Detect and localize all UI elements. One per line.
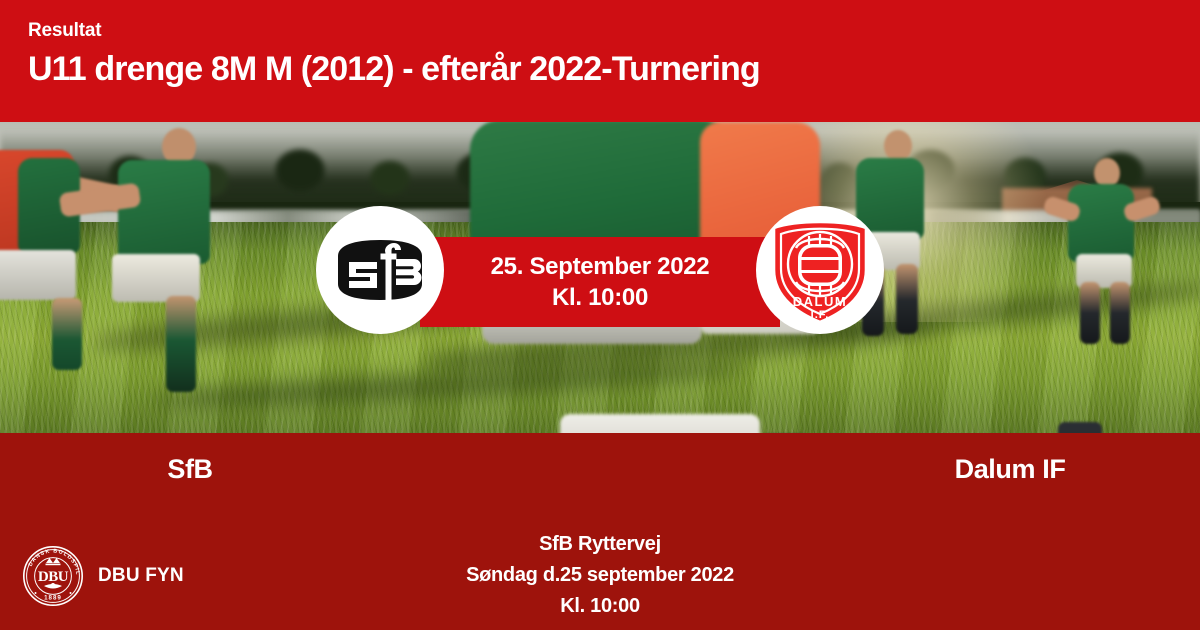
player-leg	[1110, 282, 1130, 344]
foreground-player-shorts	[560, 414, 760, 433]
match-result-poster: Resultat U11 drenge 8M M (2012) - efterå…	[0, 0, 1200, 630]
page-title: U11 drenge 8M M (2012) - efterår 2022-Tu…	[28, 46, 1200, 92]
player-leg	[896, 264, 918, 334]
player-leg	[52, 298, 82, 370]
svg-text:DALUM: DALUM	[793, 294, 847, 309]
home-team-name: SfB	[0, 451, 600, 487]
player-leg	[4, 292, 38, 372]
home-team-logo[interactable]: sfB	[316, 206, 444, 334]
away-team-name: Dalum IF	[600, 451, 1200, 487]
match-time: Kl. 10:00	[552, 282, 648, 313]
away-team-logo[interactable]: DALUM I.F. DALUM I.F.	[756, 206, 884, 334]
team-names-row: SfB Dalum IF	[0, 451, 1200, 487]
svg-text:I.F.: I.F.	[811, 309, 830, 321]
player-torso	[1068, 184, 1134, 262]
player-leg	[120, 296, 150, 388]
player-leg	[166, 296, 196, 392]
sfb-club-logo-icon	[328, 218, 432, 322]
match-date: 25. September 2022	[491, 251, 710, 282]
poster-header: Resultat U11 drenge 8M M (2012) - efterå…	[0, 0, 1200, 122]
svg-text:DBU: DBU	[38, 569, 69, 585]
dbu-emblem-icon: DANSK BOLDSPIL UNION DBU 1889	[22, 545, 84, 607]
player-torso	[118, 160, 210, 264]
dbu-org-label: DBU FYN	[98, 565, 184, 587]
svg-text:1889: 1889	[44, 595, 62, 602]
dbu-branding[interactable]: DANSK BOLDSPIL UNION DBU 1889 DBU FYN	[22, 545, 184, 607]
match-datetime-banner: 25. September 2022 Kl. 10:00	[420, 237, 780, 327]
foreground-player-leg	[1058, 422, 1102, 433]
foreground-player-leg	[516, 422, 572, 433]
player-shorts	[112, 254, 200, 302]
player-leg	[1080, 282, 1100, 344]
header-kicker: Resultat	[28, 20, 1200, 42]
dalum-if-club-logo-icon: DALUM I.F.	[768, 214, 872, 326]
